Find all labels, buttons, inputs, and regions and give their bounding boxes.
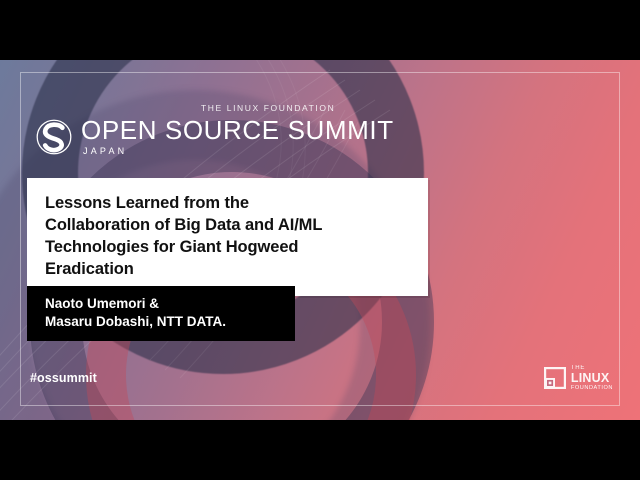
linux-foundation-kicker: THE LINUX FOUNDATION (201, 103, 335, 113)
event-name: OPEN SOURCE SUMMIT (81, 117, 394, 143)
lf-foundation-text: FOUNDATION (571, 386, 613, 392)
open-source-summit-logo: THE LINUX FOUNDATION OPEN SOURCE SUMMIT … (33, 105, 394, 159)
talk-title-card: Lessons Learned from the Collaboration o… (27, 178, 428, 296)
speaker-line-2: Masaru Dobashi, NTT DATA. (45, 313, 279, 331)
talk-title-line-4: Eradication (45, 258, 410, 280)
talk-title-line-2: Collaboration of Big Data and AI/ML (45, 214, 410, 236)
video-stage: THE LINUX FOUNDATION OPEN SOURCE SUMMIT … (0, 0, 640, 480)
speaker-line-1: Naoto Umemori & (45, 295, 279, 313)
linux-foundation-logo: THE LINUX FOUNDATION (544, 365, 613, 391)
oss-s-mark-icon (33, 115, 75, 159)
linux-foundation-mark-icon (544, 367, 566, 389)
event-hashtag: #ossummit (30, 371, 97, 385)
talk-title-line-1: Lessons Learned from the (45, 192, 410, 214)
presentation-slide: THE LINUX FOUNDATION OPEN SOURCE SUMMIT … (0, 60, 640, 420)
speaker-card: Naoto Umemori & Masaru Dobashi, NTT DATA… (27, 286, 295, 341)
talk-title-line-3: Technologies for Giant Hogweed (45, 236, 410, 258)
lf-linux-text: LINUX (571, 372, 613, 385)
event-location: JAPAN (83, 146, 394, 156)
